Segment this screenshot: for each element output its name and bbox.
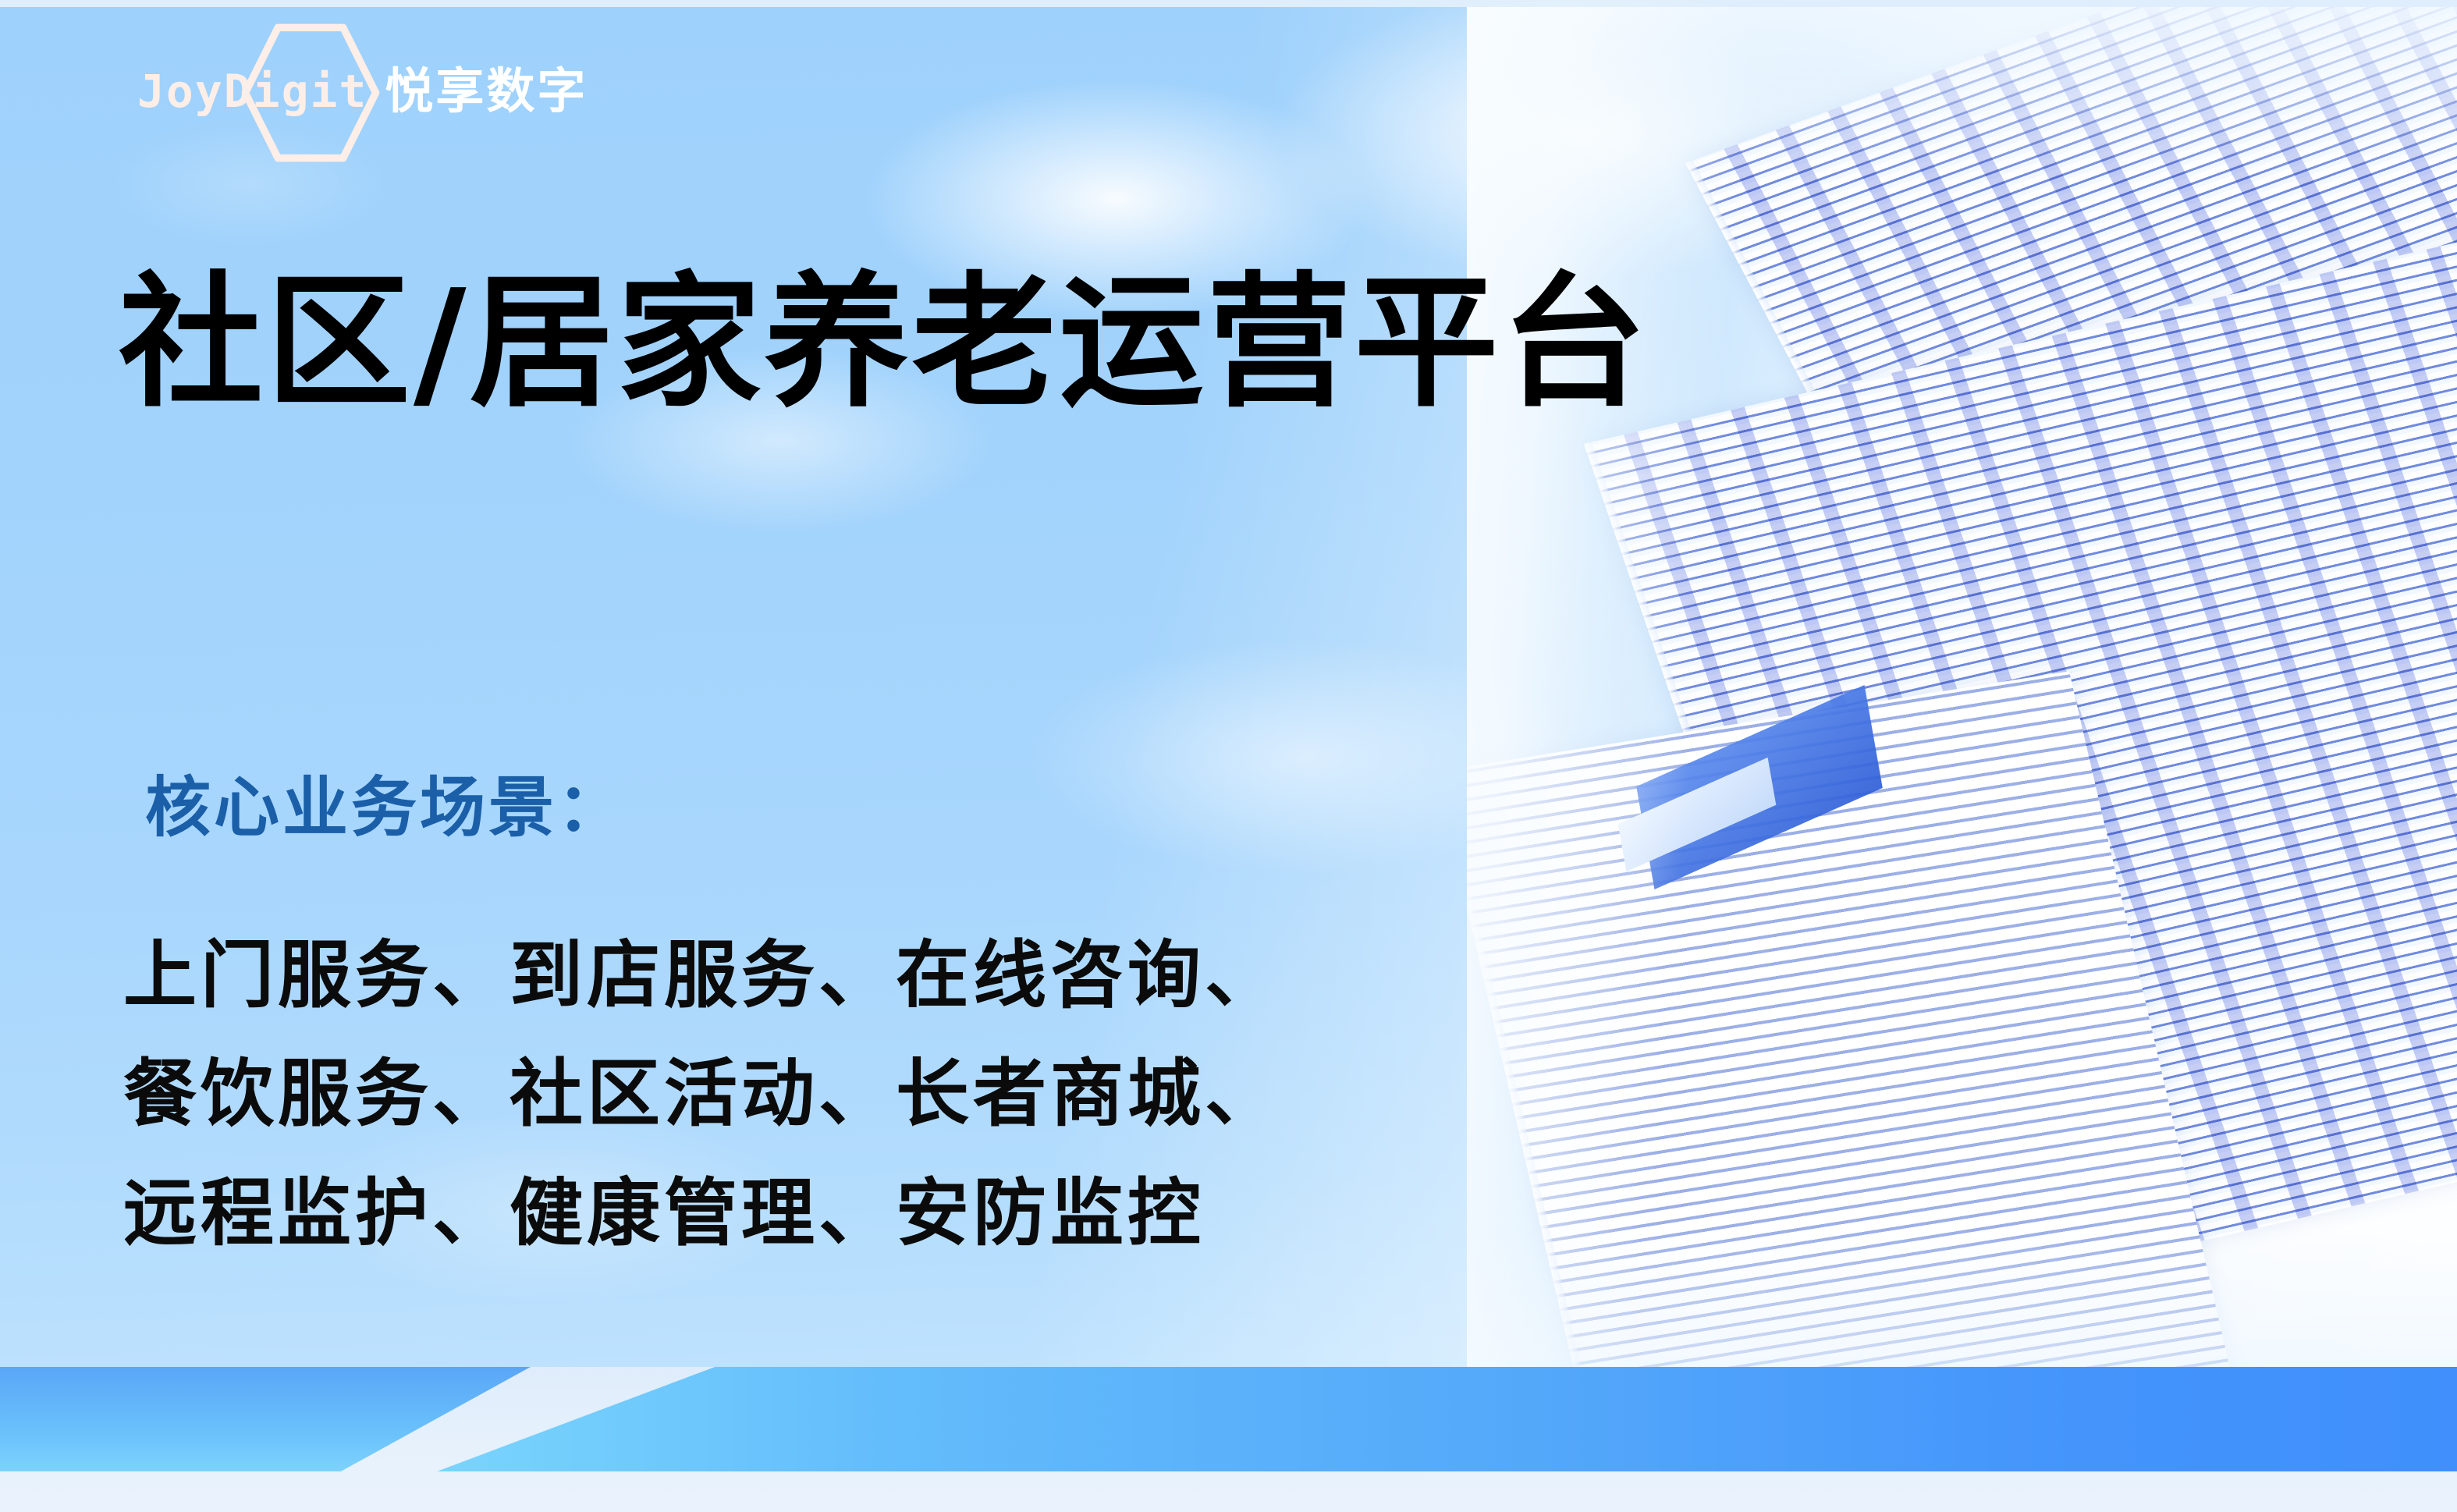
brand-logo[interactable]: JoyDigit 悦享数字: [137, 48, 588, 134]
page-title: 社区/居家养老运营平台: [119, 257, 1649, 428]
logo-chinese-name: 悦享数字: [385, 67, 588, 115]
scenario-line: 餐饮服务、社区活动、长者商城、: [123, 1035, 1282, 1154]
bottom-decorative-band: [0, 1367, 2457, 1512]
top-edge-strip: [0, 0, 2457, 7]
scenario-line: 上门服务、到店服务、在线咨询、: [123, 917, 1282, 1035]
sky-background: [0, 7, 2457, 1512]
section-heading: 核心业务场景：: [145, 768, 626, 847]
slide-root: JoyDigit 悦享数字 社区/居家养老运营平台 核心业务场景： 上门服务、到…: [0, 0, 2457, 1512]
logo-wordmark: JoyDigit: [137, 69, 367, 114]
business-scenarios-list: 上门服务、到店服务、在线咨询、 餐饮服务、社区活动、长者商城、 远程监护、健康管…: [123, 917, 1282, 1273]
scenario-line: 远程监护、健康管理、安防监控: [123, 1155, 1282, 1273]
band-shape-main: [437, 1367, 2457, 1471]
